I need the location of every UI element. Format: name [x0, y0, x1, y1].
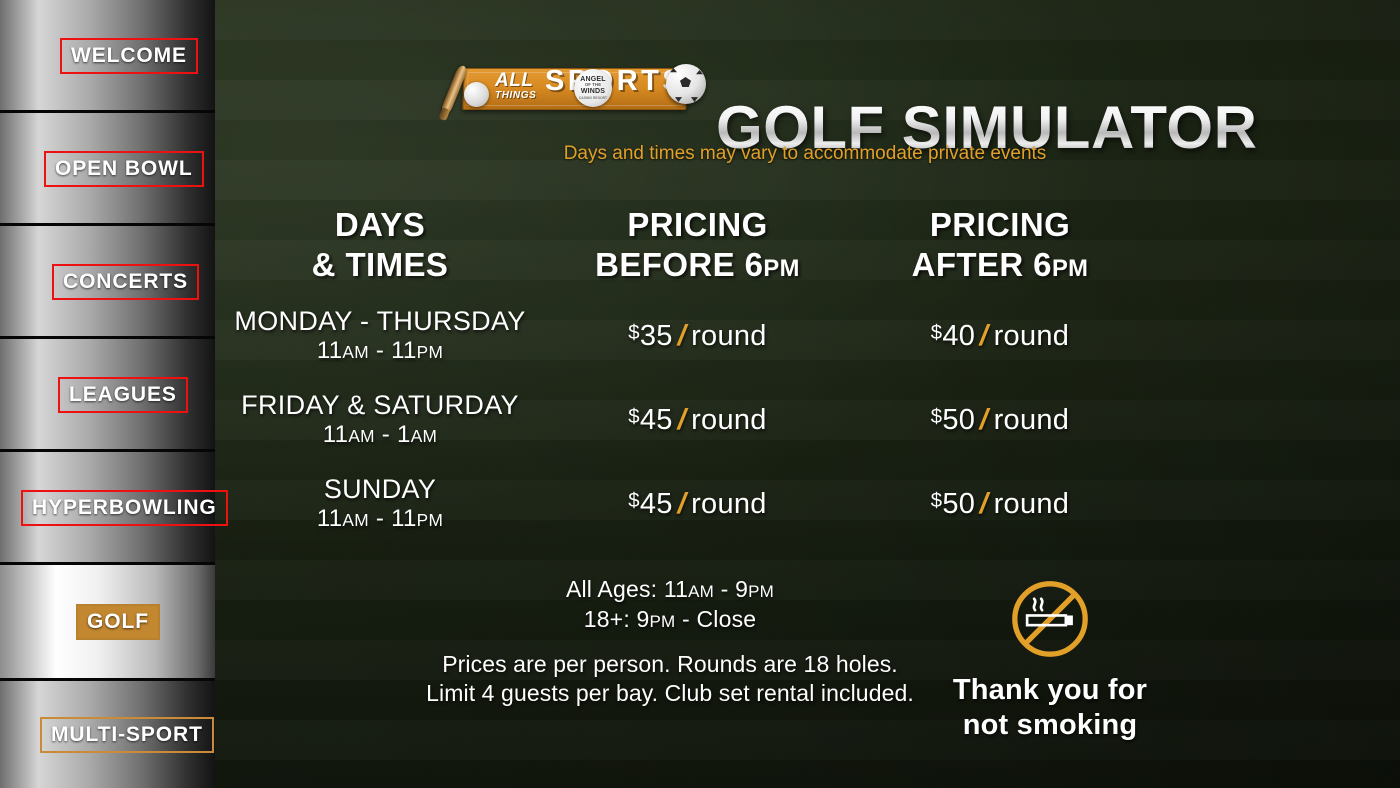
- column-header-line-2: & TIMES: [215, 245, 545, 285]
- cell-days-times: MONDAY - THURSDAY11AM - 11PM: [215, 306, 545, 366]
- column-header-line-2: BEFORE 6PM: [545, 245, 850, 285]
- no-smoking-line-2: not smoking: [945, 708, 1155, 743]
- price-amount: 45: [640, 404, 673, 436]
- price-unit: round: [691, 320, 767, 352]
- logo-text-all: ALL: [495, 71, 533, 90]
- no-smoking-icon: [1006, 575, 1094, 663]
- cell-days-times: SUNDAY11AM - 11PM: [215, 474, 545, 534]
- sidebar-nav: WELCOMEOPEN BOWLCONCERTSLEAGUESHYPERBOWL…: [0, 0, 215, 788]
- column-header-line-1: DAYS: [215, 205, 545, 245]
- table-row: FRIDAY & SATURDAY11AM - 1AM$45/round$50/…: [215, 378, 1400, 462]
- cell-price-after-6pm: $40/round: [850, 322, 1150, 351]
- table-body: MONDAY - THURSDAY11AM - 11PM$35/round$40…: [215, 294, 1400, 546]
- meridiem-suffix: AM: [342, 342, 369, 362]
- age-policy-line-1: All Ages: 11AM - 9PM: [420, 575, 920, 605]
- price-unit: round: [994, 488, 1070, 520]
- currency-symbol: $: [931, 321, 943, 343]
- time-range-label: 11AM - 11PM: [215, 337, 545, 366]
- cell-price-before-6pm: $45/round: [545, 490, 850, 519]
- table-row: MONDAY - THURSDAY11AM - 11PM$35/round$40…: [215, 294, 1400, 378]
- meridiem-suffix: AM: [688, 582, 714, 601]
- meridiem-suffix: AM: [411, 426, 438, 446]
- column-header-line-1: PRICING: [850, 205, 1150, 245]
- fine-print-line-1: Prices are per person. Rounds are 18 hol…: [400, 650, 940, 679]
- price-unit: round: [994, 404, 1070, 436]
- price-unit: round: [691, 404, 767, 436]
- meridiem-suffix: PM: [763, 255, 799, 282]
- column-header-line-2: AFTER 6PM: [850, 245, 1150, 285]
- currency-symbol: $: [628, 321, 640, 343]
- price-before-6pm: $35/round: [545, 322, 850, 351]
- badge-line-3: WINDS: [581, 88, 605, 95]
- baseball-icon: [464, 82, 489, 107]
- age-policy-note: All Ages: 11AM - 9PM18+: 9PM - Close: [420, 575, 920, 635]
- badge-line-4: CASINO RESORT: [579, 96, 607, 100]
- column-header-line-1: PRICING: [545, 205, 850, 245]
- currency-symbol: $: [628, 489, 640, 511]
- sidebar-item-leagues[interactable]: LEAGUES: [58, 377, 188, 413]
- no-smoking-line-1: Thank you for: [945, 673, 1155, 708]
- price-unit: round: [691, 488, 767, 520]
- logo-text-things: THINGS: [495, 91, 536, 101]
- price-unit: round: [994, 320, 1070, 352]
- signage-board: WELCOMEOPEN BOWLCONCERTSLEAGUESHYPERBOWL…: [0, 0, 1400, 788]
- angel-of-the-winds-badge: ANGEL OF THE WINDS CASINO RESORT: [574, 69, 612, 107]
- page-subtitle: Days and times may vary to accommodate p…: [0, 144, 1400, 163]
- meridiem-suffix: AM: [348, 426, 375, 446]
- table-row: SUNDAY11AM - 11PM$45/round$50/round: [215, 462, 1400, 546]
- currency-symbol: $: [628, 405, 640, 427]
- cell-days-times: FRIDAY & SATURDAY11AM - 1AM: [215, 390, 545, 450]
- cell-price-after-6pm: $50/round: [850, 406, 1150, 435]
- price-after-6pm: $40/round: [850, 322, 1150, 351]
- price-amount: 35: [640, 320, 673, 352]
- meridiem-suffix: PM: [417, 342, 444, 362]
- age-policy-line-2: 18+: 9PM - Close: [420, 605, 920, 635]
- meridiem-suffix: AM: [342, 510, 369, 530]
- price-amount: 40: [942, 320, 975, 352]
- price-after-6pm: $50/round: [850, 406, 1150, 435]
- meridiem-suffix: PM: [650, 612, 676, 631]
- sidebar-item-concerts[interactable]: CONCERTS: [52, 264, 199, 300]
- price-amount: 50: [942, 488, 975, 520]
- cell-price-before-6pm: $35/round: [545, 322, 850, 351]
- day-range-label: SUNDAY: [215, 474, 545, 505]
- price-amount: 45: [640, 488, 673, 520]
- time-range-label: 11AM - 11PM: [215, 505, 545, 534]
- pricing-table: DAYS& TIMES PRICINGBEFORE 6PM PRICINGAFT…: [215, 196, 1400, 546]
- table-header-row: DAYS& TIMES PRICINGBEFORE 6PM PRICINGAFT…: [215, 196, 1400, 294]
- time-range-label: 11AM - 1AM: [215, 421, 545, 450]
- all-things-sports-logo: ALL THINGS SPORTS ANGEL OF THE WINDS CAS…: [437, 60, 702, 116]
- column-header-pricing-after: PRICINGAFTER 6PM: [850, 205, 1150, 284]
- day-range-label: FRIDAY & SATURDAY: [215, 390, 545, 421]
- price-before-6pm: $45/round: [545, 490, 850, 519]
- currency-symbol: $: [931, 405, 943, 427]
- soccer-ball-icon: [666, 64, 706, 104]
- column-header-pricing-before: PRICINGBEFORE 6PM: [545, 205, 850, 284]
- meridiem-suffix: PM: [748, 582, 774, 601]
- sidebar-item-multi-sport[interactable]: MULTI-SPORT: [40, 717, 214, 753]
- currency-symbol: $: [931, 489, 943, 511]
- day-range-label: MONDAY - THURSDAY: [215, 306, 545, 337]
- no-smoking-notice: Thank you for not smoking: [945, 575, 1155, 744]
- fine-print-line-2: Limit 4 guests per bay. Club set rental …: [400, 679, 940, 708]
- price-amount: 50: [942, 404, 975, 436]
- pricing-fine-print: Prices are per person. Rounds are 18 hol…: [400, 650, 940, 709]
- meridiem-suffix: PM: [417, 510, 444, 530]
- column-header-days-times: DAYS& TIMES: [215, 205, 545, 284]
- cell-price-before-6pm: $45/round: [545, 406, 850, 435]
- logo-text-sports: SPORTS: [545, 67, 685, 96]
- sidebar-item-golf[interactable]: GOLF: [76, 604, 160, 640]
- sidebar-item-hyperbowling[interactable]: HYPERBOWLING: [21, 490, 228, 526]
- price-before-6pm: $45/round: [545, 406, 850, 435]
- sidebar-item-welcome[interactable]: WELCOME: [60, 38, 198, 74]
- cell-price-after-6pm: $50/round: [850, 490, 1150, 519]
- price-after-6pm: $50/round: [850, 490, 1150, 519]
- meridiem-suffix: PM: [1052, 255, 1088, 282]
